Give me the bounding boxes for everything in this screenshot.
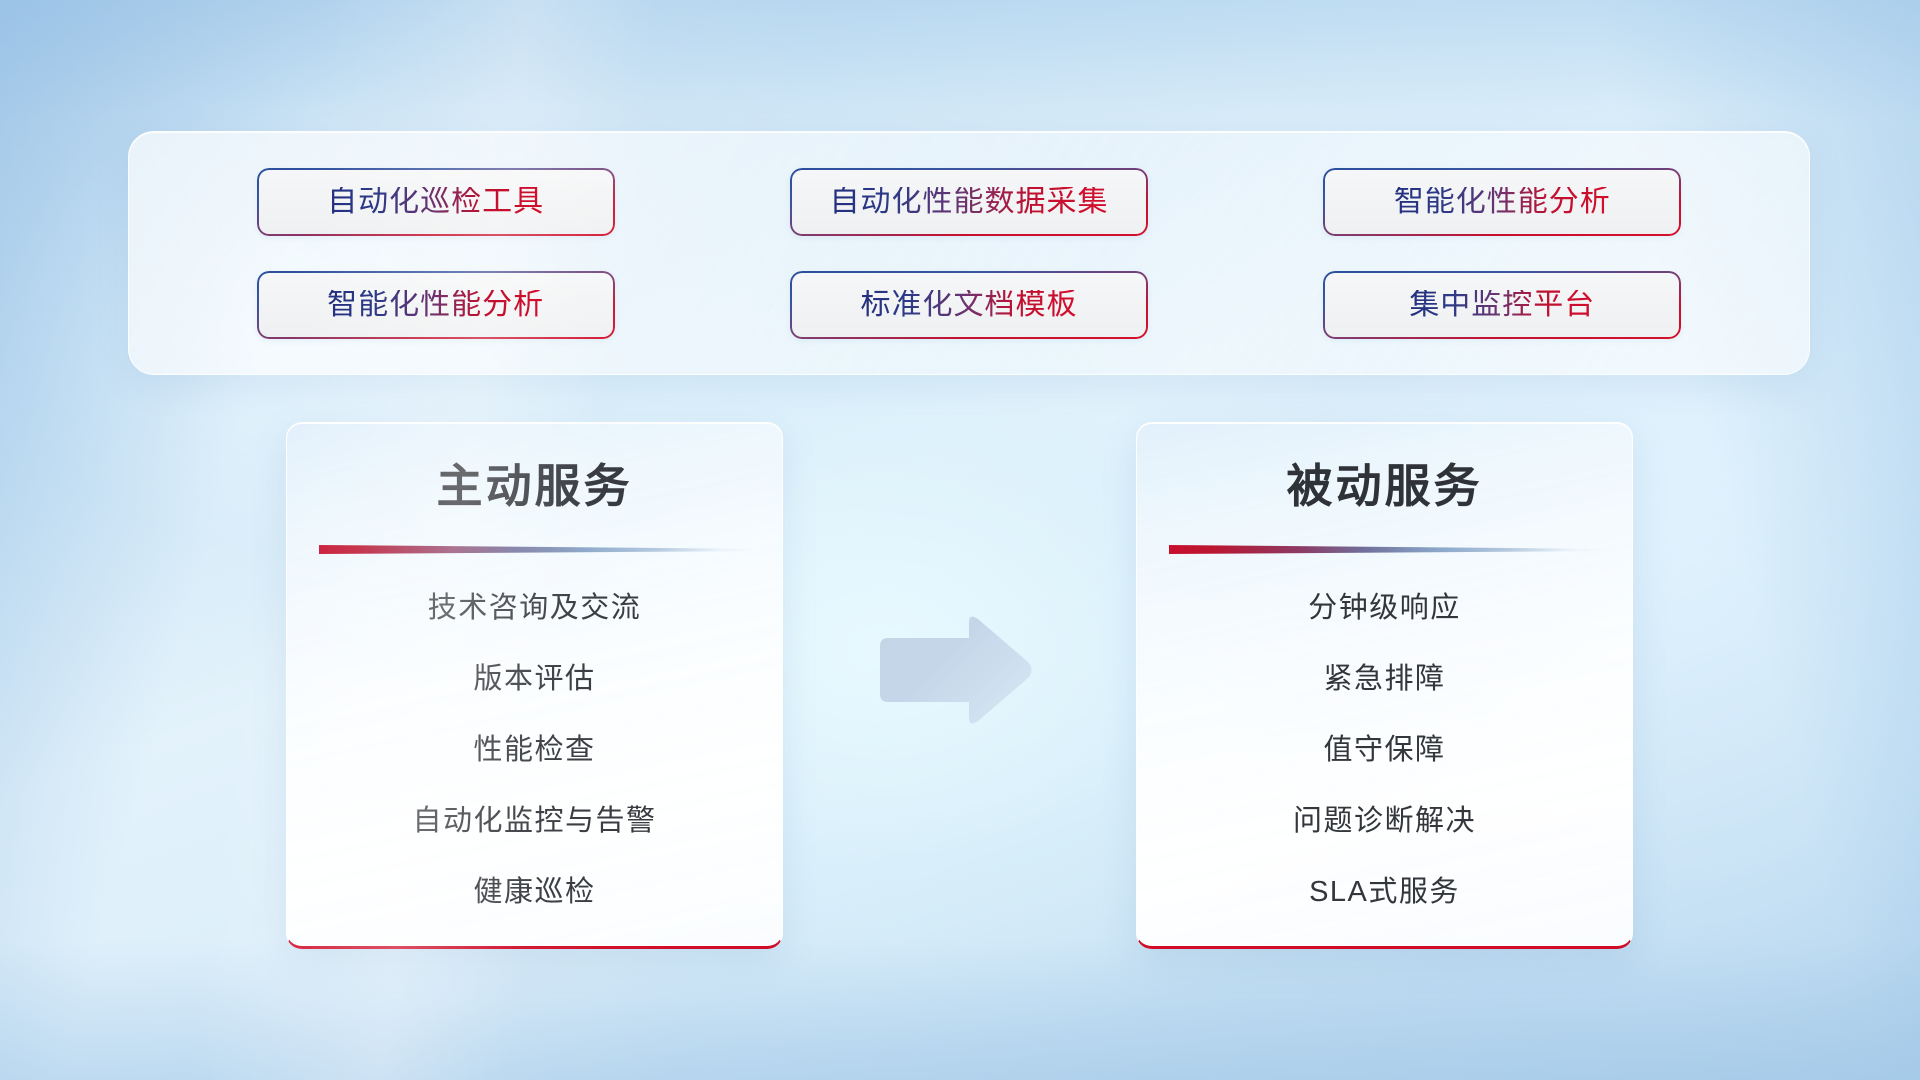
list-item: 值守保障 [1137, 736, 1632, 765]
capability-pill-label: 自动化性能数据采集 [829, 187, 1108, 217]
capability-pill[interactable]: 智能化性能分析 [1323, 168, 1681, 236]
list-item: 版本评估 [287, 665, 782, 694]
capability-pill-label: 集中监控平台 [1409, 290, 1595, 320]
capability-pill[interactable]: 自动化性能数据采集 [790, 168, 1148, 236]
service-item-list: 分钟级响应 紧急排障 值守保障 问题诊断解决 SLA式服务 [1137, 594, 1632, 907]
list-item: SLA式服务 [1137, 878, 1632, 907]
list-item: 问题诊断解决 [1137, 807, 1632, 836]
list-item: 健康巡检 [287, 878, 782, 907]
capabilities-panel: 自动化巡检工具 自动化性能数据采集 智能化性能分析 智能化性能分析 标准化文档模… [128, 131, 1810, 375]
capability-pill-label: 智能化性能分析 [1394, 187, 1611, 217]
service-card-active: 主动服务 技术咨询及交流 版本评估 性能检查 自动化监控与告警 健康巡检 [286, 422, 783, 949]
capability-pill-label: 智能化性能分析 [327, 290, 544, 320]
list-item: 技术咨询及交流 [287, 594, 782, 623]
card-title: 被动服务 [1137, 463, 1632, 509]
service-item-list: 技术咨询及交流 版本评估 性能检查 自动化监控与告警 健康巡检 [287, 594, 782, 907]
capability-pill[interactable]: 智能化性能分析 [257, 271, 615, 339]
capability-pill-label: 标准化文档模板 [860, 290, 1077, 320]
list-item: 分钟级响应 [1137, 594, 1632, 623]
capability-pill-label: 自动化巡检工具 [327, 187, 544, 217]
card-divider [1169, 545, 1601, 554]
capability-pill-grid: 自动化巡检工具 自动化性能数据采集 智能化性能分析 智能化性能分析 标准化文档模… [129, 132, 1809, 374]
card-title: 主动服务 [287, 463, 782, 509]
arrow-right-icon [872, 613, 1034, 728]
service-card-passive: 被动服务 分钟级响应 紧急排障 值守保障 问题诊断解决 SLA式服务 [1136, 422, 1633, 949]
card-divider [319, 545, 751, 554]
slide-canvas: 自动化巡检工具 自动化性能数据采集 智能化性能分析 智能化性能分析 标准化文档模… [0, 0, 1920, 1080]
list-item: 紧急排障 [1137, 665, 1632, 694]
list-item: 性能检查 [287, 736, 782, 765]
capability-pill[interactable]: 集中监控平台 [1323, 271, 1681, 339]
list-item: 自动化监控与告警 [287, 807, 782, 836]
capability-pill[interactable]: 标准化文档模板 [790, 271, 1148, 339]
capability-pill[interactable]: 自动化巡检工具 [257, 168, 615, 236]
